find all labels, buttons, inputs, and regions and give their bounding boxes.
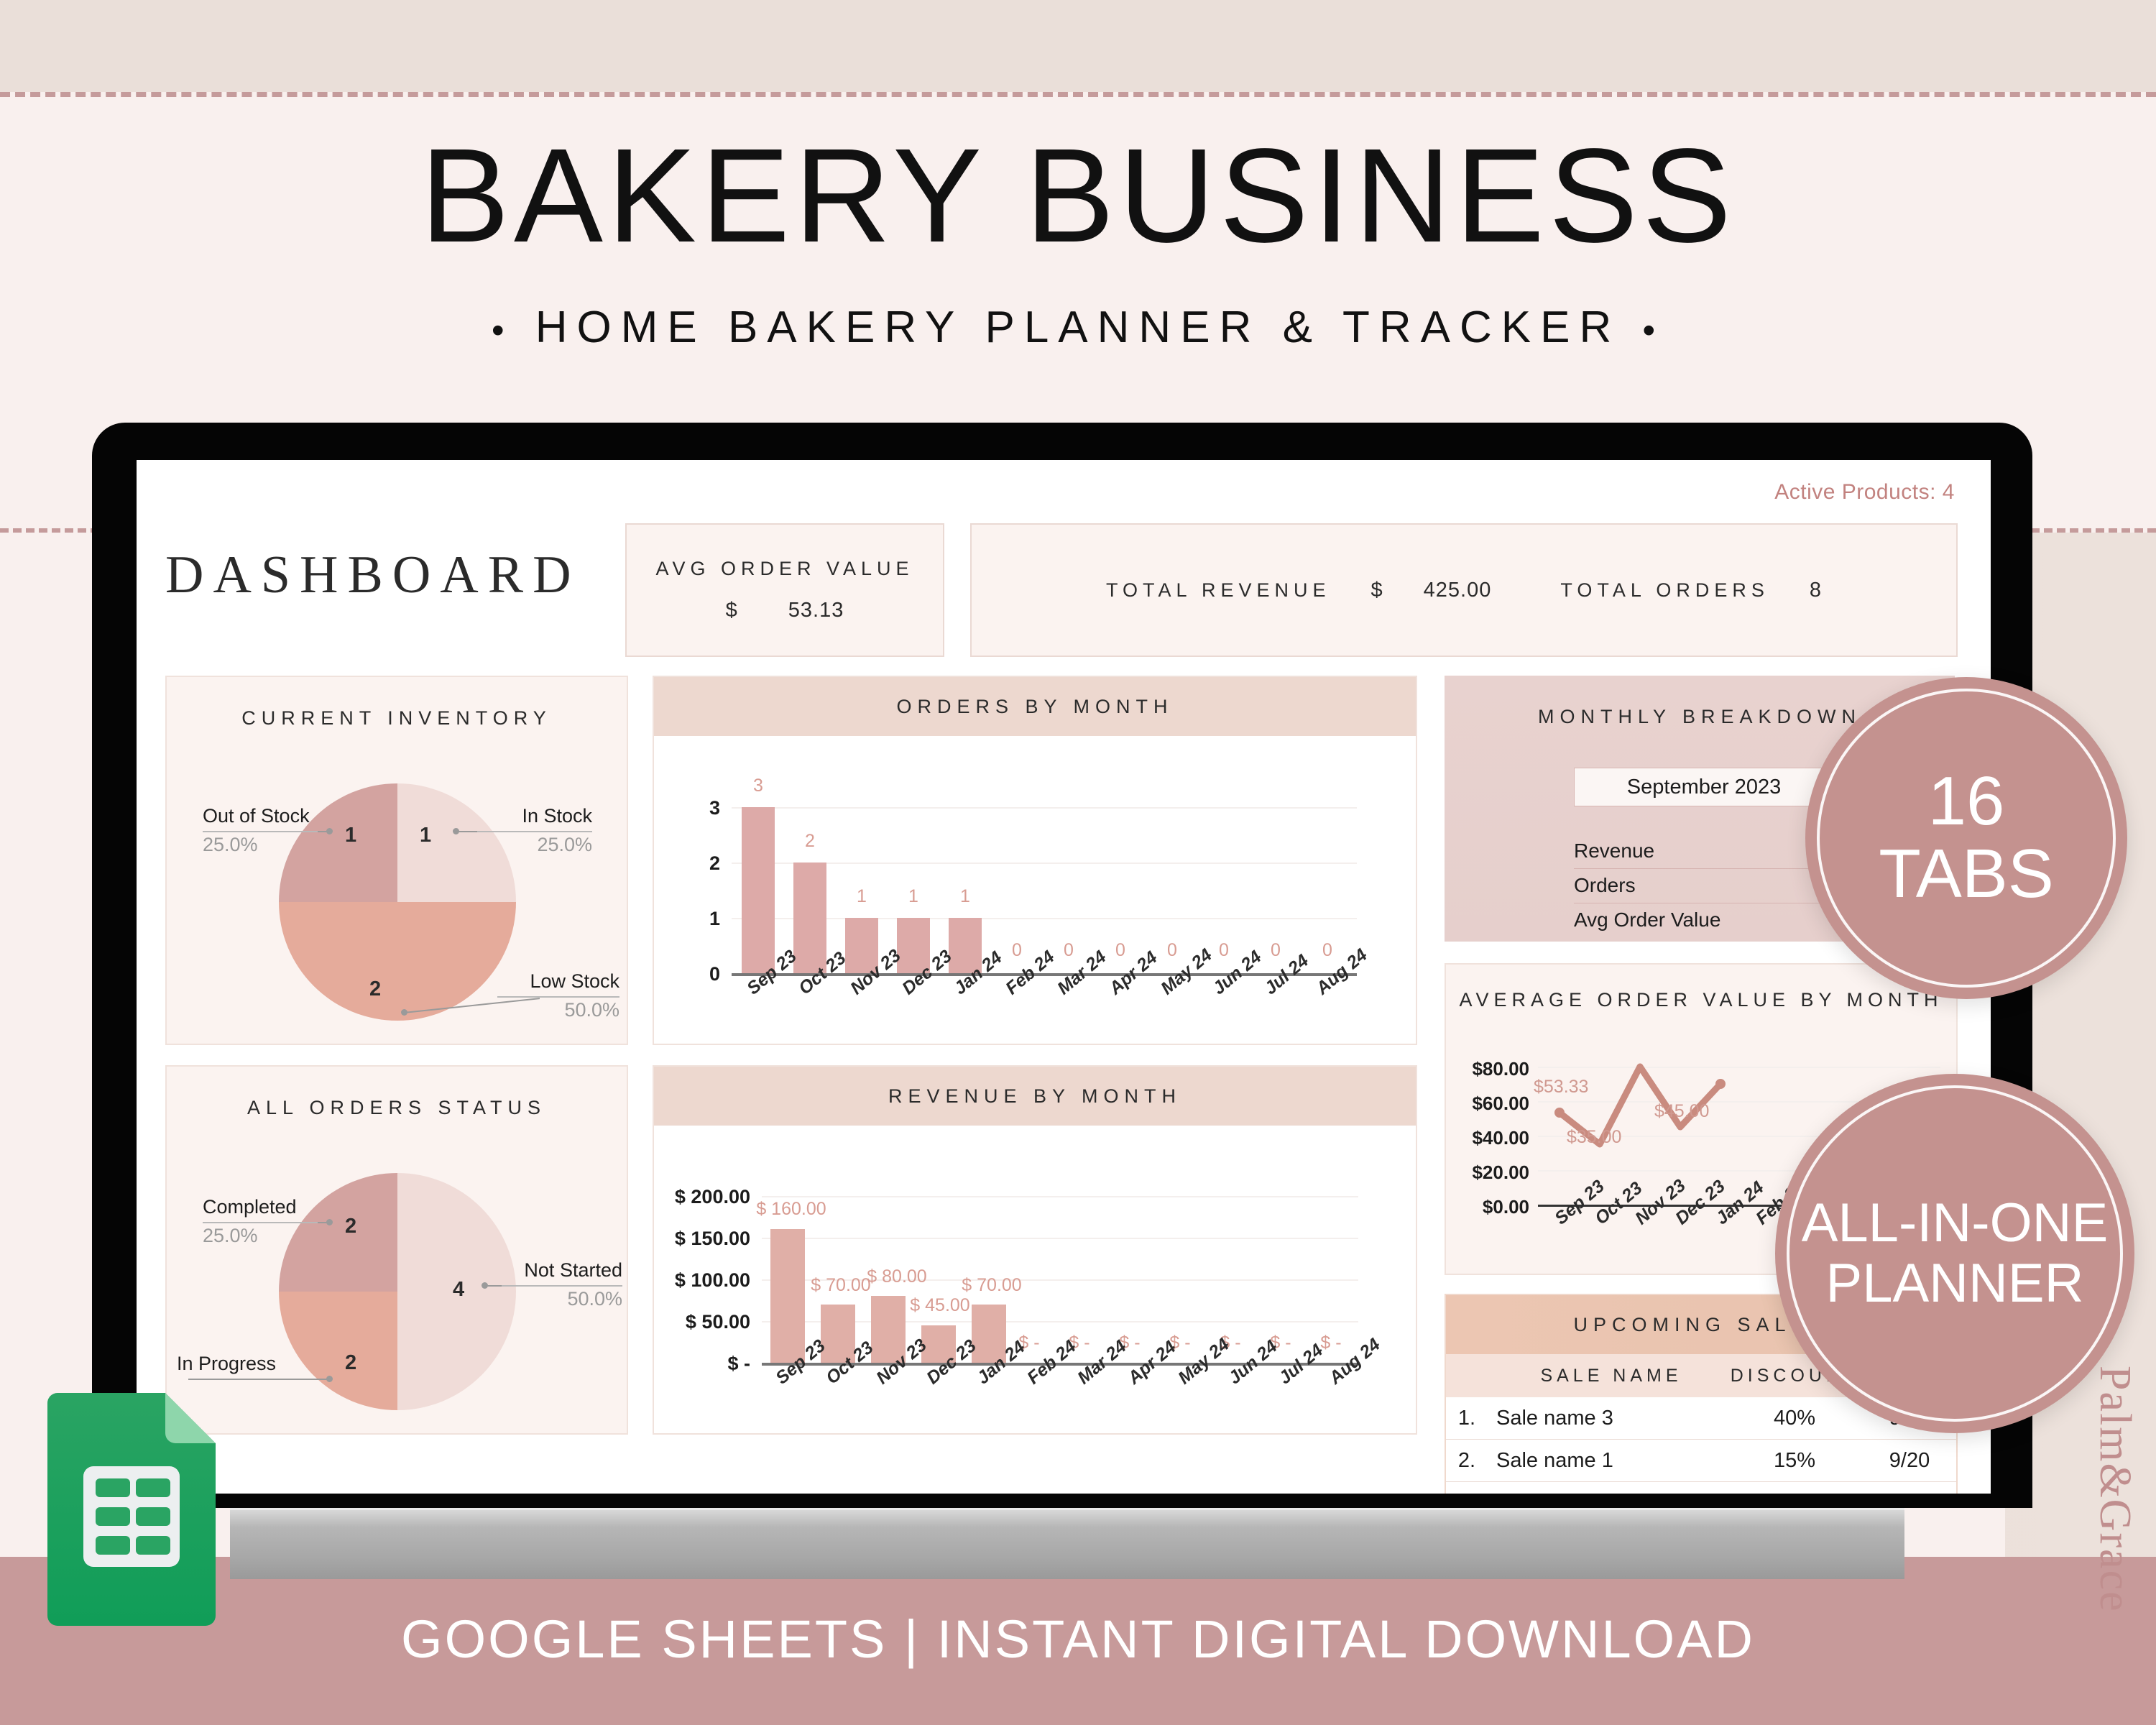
- page-subtitle-text: HOME BAKERY PLANNER & TRACKER: [535, 303, 1621, 352]
- page-subtitle: • HOME BAKERY PLANNER & TRACKER •: [0, 302, 2156, 353]
- bar-label-sep-23: 3: [739, 776, 778, 796]
- badge-all-in-one-line2: PLANNER: [1826, 1253, 2084, 1314]
- kpi-total-revenue-label: TOTAL REVENUE: [1106, 579, 1331, 602]
- bullet-left-icon: •: [492, 310, 514, 351]
- sales-row-3-index: 3.: [1446, 1491, 1488, 1494]
- pie-percent-completed: 25.0%: [203, 1225, 258, 1247]
- leader-line-in-progress: [188, 1379, 331, 1380]
- bar-label-nov-23: 1: [842, 886, 881, 907]
- label-rule-completed: [203, 1222, 318, 1223]
- label-rule-in-stock: [477, 831, 592, 832]
- pie-percent-in-stock: 25.0%: [477, 834, 592, 856]
- google-sheets-icon: [34, 1387, 229, 1632]
- kpi-total-orders-value: 8: [1810, 579, 1822, 602]
- pie-label-not-started: Not Started: [502, 1259, 622, 1282]
- rev-gridline-150: [762, 1238, 1358, 1239]
- chart-card-orders-by-month: ORDERS BY MONTH 0 1 2 3 3 2 1 1 1 0 0: [653, 676, 1417, 1045]
- pie-slice-value-not-started: 4: [453, 1278, 464, 1302]
- month-selector-value: September 2023: [1627, 776, 1781, 799]
- bar-label-jan-24: 1: [946, 886, 985, 907]
- rev-y-tick-150: $ 150.00: [660, 1228, 750, 1250]
- month-selector-dropdown[interactable]: September 2023: [1574, 768, 1834, 806]
- kpi-total-revenue-currency: $: [1371, 579, 1383, 602]
- sales-row-3-discount: 20%: [1726, 1491, 1863, 1494]
- pie-slice-value-completed: 2: [345, 1215, 356, 1238]
- chart-card-revenue-by-month: REVENUE BY MONTH $ - $ 50.00 $ 100.00 $ …: [653, 1065, 1417, 1435]
- monthly-row-revenue-label: Revenue: [1574, 839, 1654, 862]
- laptop-screen: Active Products: 4 DASHBOARD AVG ORDER V…: [137, 460, 1991, 1494]
- sales-row-2-name: Sale name 1: [1488, 1449, 1726, 1473]
- monthly-row-orders-label: Orders: [1574, 874, 1636, 897]
- sales-row-2-index: 2.: [1446, 1449, 1488, 1473]
- rev-y-tick-100: $ 100.00: [660, 1269, 750, 1292]
- pie-slice-value-in-stock: 1: [420, 824, 431, 847]
- leader-dot-low-stock: [401, 1009, 407, 1016]
- kpi-totals: TOTAL REVENUE $ 425.00 TOTAL ORDERS 8: [970, 523, 1958, 657]
- rev-bar-label-sep-23: $ 160.00: [753, 1199, 829, 1220]
- kpi-total-orders-label: TOTAL ORDERS: [1560, 579, 1769, 602]
- sales-row-3-name: Sale name 2: [1488, 1491, 1726, 1494]
- rev-bar-sep-23: [770, 1229, 805, 1363]
- sales-row-2-discount: 15%: [1726, 1449, 1863, 1473]
- badge-16-tabs-line2: TABS: [1879, 838, 2054, 911]
- chart-card-all-orders-status: ALL ORDERS STATUS 4 2 2 Not Started 50.0…: [165, 1065, 628, 1435]
- footer-caption: GOOGLE SHEETS | INSTANT DIGITAL DOWNLOAD: [0, 1609, 2156, 1670]
- rev-bar-label-nov-23: $ 80.00: [862, 1266, 931, 1287]
- leader-dot-completed: [326, 1219, 333, 1225]
- leader-dot-in-progress: [326, 1376, 333, 1382]
- chart-title-all-orders-status: ALL ORDERS STATUS: [167, 1067, 627, 1119]
- kpi-avg-order-value: AVG ORDER VALUE $ 53.13: [625, 523, 944, 657]
- background-top-band: [0, 0, 2156, 92]
- bar-label-aug-24: 0: [1308, 940, 1347, 961]
- dashed-divider-top: [0, 92, 2156, 97]
- badge-all-in-one-planner: ALL-IN-ONE PLANNER: [1775, 1074, 2134, 1433]
- pie-all-orders-status: [279, 1173, 516, 1410]
- rev-y-tick-50: $ 50.00: [660, 1311, 750, 1333]
- bar-label-oct-23: 2: [791, 831, 829, 852]
- chart-card-current-inventory: CURRENT INVENTORY 1 2 1 In Stock 25.0% O…: [165, 676, 628, 1045]
- label-rule-out-of-stock: [203, 831, 318, 832]
- y-tick-1: 1: [676, 908, 720, 930]
- leader-dot-in-stock: [453, 828, 459, 834]
- kpi-avg-order-value-amount: 53.13: [788, 599, 844, 622]
- aov-label-dec-23: $45.00: [1654, 1101, 1709, 1122]
- spreadsheet-dashboard: Active Products: 4 DASHBOARD AVG ORDER V…: [137, 460, 1991, 1494]
- kpi-avg-order-value-label: AVG ORDER VALUE: [655, 558, 913, 580]
- rev-bar-label-jan-24: $ 70.00: [957, 1275, 1026, 1296]
- brand-watermark: Palm&Grace: [2089, 1366, 2140, 1613]
- pie-percent-low-stock: 50.0%: [497, 999, 619, 1021]
- badge-all-in-one-line1: ALL-IN-ONE: [1802, 1193, 2109, 1253]
- leader-dot-not-started: [482, 1282, 488, 1289]
- pie-label-low-stock: Low Stock: [497, 970, 619, 993]
- dashboard-heading: DASHBOARD: [165, 545, 581, 606]
- bullet-right-icon: •: [1643, 310, 1665, 351]
- y-tick-3: 3: [676, 797, 720, 819]
- table-row[interactable]: 3. Sale name 2 20% 9/21: [1446, 1482, 1956, 1494]
- rev-gridline-200: [762, 1196, 1358, 1197]
- leader-dot-out-of-stock: [326, 828, 333, 834]
- rev-y-tick-0: $ -: [660, 1353, 750, 1375]
- pie-slice-value-low-stock: 2: [369, 977, 381, 1001]
- chart-title-orders-by-month: ORDERS BY MONTH: [654, 677, 1416, 736]
- bar-label-may-24: 0: [1153, 940, 1192, 961]
- chart-title-revenue-by-month: REVENUE BY MONTH: [654, 1067, 1416, 1126]
- sales-row-1-discount: 40%: [1726, 1407, 1863, 1430]
- plot-revenue-by-month: $ - $ 50.00 $ 100.00 $ 150.00 $ 200.00 $…: [654, 1126, 1413, 1430]
- plot-orders-by-month: 0 1 2 3 3 2 1 1 1 0 0 0 0 0 0 0 Sep 23 O…: [654, 736, 1413, 1041]
- page-title: BAKERY BUSINESS: [0, 129, 2156, 263]
- sales-row-1-index: 1.: [1446, 1407, 1488, 1430]
- y-tick-0: 0: [676, 963, 720, 985]
- pie-label-in-stock: In Stock: [477, 805, 592, 827]
- bar-oct-23: [793, 862, 826, 973]
- rev-y-tick-200: $ 200.00: [660, 1186, 750, 1208]
- sales-row-2-date: 9/20: [1863, 1449, 1956, 1473]
- bar-label-dec-23: 1: [894, 886, 933, 907]
- kpi-avg-order-value-currency: $: [726, 599, 738, 622]
- kpi-total-revenue-amount: 425.00: [1424, 579, 1492, 602]
- sales-col-name: SALE NAME: [1488, 1366, 1726, 1386]
- label-rule-not-started: [502, 1285, 622, 1287]
- bar-label-feb-24: 0: [998, 940, 1036, 961]
- pie-label-in-progress: In Progress: [177, 1353, 276, 1375]
- label-rule-low-stock: [497, 996, 619, 998]
- y-tick-2: 2: [676, 852, 720, 875]
- aov-label-oct-23: $35.00: [1567, 1127, 1621, 1148]
- gridline-3: [732, 807, 1357, 809]
- pie-slice-value-out-of-stock: 1: [345, 824, 356, 847]
- rev-bar-label-dec-23: $ 45.00: [906, 1295, 975, 1316]
- aov-label-sep-23: $53.33: [1534, 1077, 1588, 1098]
- pie-percent-out-of-stock: 25.0%: [203, 834, 258, 856]
- active-products-label: Active Products: 4: [1774, 480, 1955, 505]
- bar-sep-23: [742, 807, 775, 973]
- table-row[interactable]: 2. Sale name 1 15% 9/20: [1446, 1440, 1956, 1482]
- sales-row-1-name: Sale name 3: [1488, 1407, 1726, 1430]
- chart-title-current-inventory: CURRENT INVENTORY: [167, 677, 627, 730]
- badge-16-tabs-line1: 16: [1928, 765, 2005, 838]
- sales-row-3-date: 9/21: [1863, 1491, 1956, 1494]
- pie-slice-value-in-progress: 2: [345, 1351, 356, 1375]
- laptop-base: [230, 1508, 1904, 1579]
- monthly-row-aov-label: Avg Order Value: [1574, 908, 1720, 931]
- badge-16-tabs: 16 TABS: [1805, 677, 2127, 999]
- pie-label-out-of-stock: Out of Stock: [203, 805, 310, 827]
- pie-label-completed: Completed: [203, 1196, 297, 1218]
- pie-percent-not-started: 50.0%: [502, 1288, 622, 1310]
